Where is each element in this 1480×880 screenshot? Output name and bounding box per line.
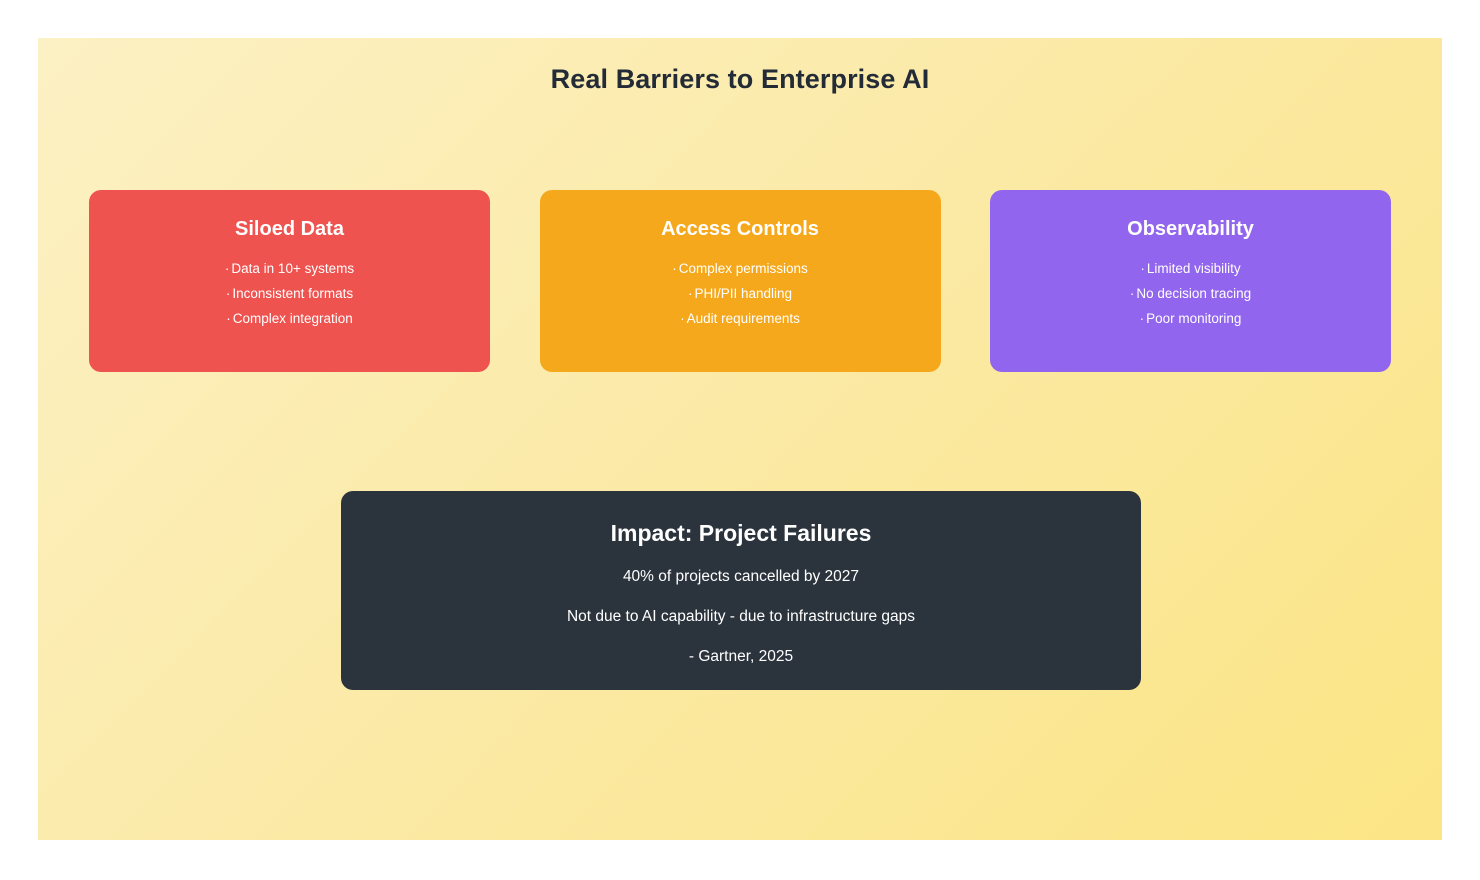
slide-root: Real Barriers to Enterprise AI Siloed Da…	[0, 0, 1480, 880]
bullet-icon: ·	[688, 286, 693, 301]
barrier-point: ·PHI/PII handling	[688, 281, 792, 306]
bullet-icon: ·	[680, 311, 685, 326]
barrier-point-label: Audit requirements	[687, 311, 800, 326]
bullet-icon: ·	[226, 311, 231, 326]
barrier-card: Access Controls·Complex permissions·PHI/…	[540, 190, 941, 372]
barrier-point: ·Audit requirements	[680, 306, 800, 331]
barrier-card-title: Siloed Data	[235, 216, 344, 242]
bullet-icon: ·	[1140, 311, 1145, 326]
bullet-icon: ·	[1140, 261, 1145, 276]
bullet-icon: ·	[226, 286, 231, 301]
barrier-point-label: Inconsistent formats	[232, 286, 353, 301]
impact-attribution: - Gartner, 2025	[689, 647, 793, 667]
page-title: Real Barriers to Enterprise AI	[38, 64, 1442, 95]
barrier-card: Observability·Limited visibility·No deci…	[990, 190, 1391, 372]
bullet-icon: ·	[672, 261, 677, 276]
barrier-point-list: ·Data in 10+ systems·Inconsistent format…	[225, 256, 354, 331]
barrier-card-title: Access Controls	[661, 216, 819, 242]
barrier-point: ·No decision tracing	[1130, 281, 1251, 306]
barrier-point-label: Limited visibility	[1147, 261, 1241, 276]
barrier-point-label: Poor monitoring	[1146, 311, 1241, 326]
barrier-point-list: ·Limited visibility·No decision tracing·…	[1130, 256, 1251, 331]
barrier-point: ·Limited visibility	[1140, 256, 1240, 281]
barrier-point-label: Complex integration	[233, 311, 353, 326]
barrier-card-title: Observability	[1127, 216, 1254, 242]
bullet-icon: ·	[225, 261, 230, 276]
barrier-point: ·Complex integration	[226, 306, 353, 331]
impact-reason-line: Not due to AI capability - due to infras…	[567, 607, 915, 627]
impact-callout-box: Impact: Project Failures 40% of projects…	[341, 491, 1141, 690]
barrier-card: Siloed Data·Data in 10+ systems·Inconsis…	[89, 190, 490, 372]
barrier-point-label: Data in 10+ systems	[231, 261, 354, 276]
barrier-point-label: Complex permissions	[679, 261, 808, 276]
barrier-point-list: ·Complex permissions·PHI/PII handling·Au…	[672, 256, 808, 331]
impact-statistic-line: 40% of projects cancelled by 2027	[623, 567, 859, 587]
bullet-icon: ·	[1130, 286, 1135, 301]
barrier-point: ·Poor monitoring	[1140, 306, 1242, 331]
barrier-point: ·Inconsistent formats	[226, 281, 353, 306]
barrier-point-label: No decision tracing	[1136, 286, 1251, 301]
barrier-point: ·Complex permissions	[672, 256, 808, 281]
barrier-point-label: PHI/PII handling	[694, 286, 792, 301]
impact-title: Impact: Project Failures	[611, 518, 872, 548]
barrier-card-group: Siloed Data·Data in 10+ systems·Inconsis…	[89, 190, 1391, 372]
barrier-point: ·Data in 10+ systems	[225, 256, 354, 281]
slide-panel: Real Barriers to Enterprise AI Siloed Da…	[38, 38, 1442, 840]
